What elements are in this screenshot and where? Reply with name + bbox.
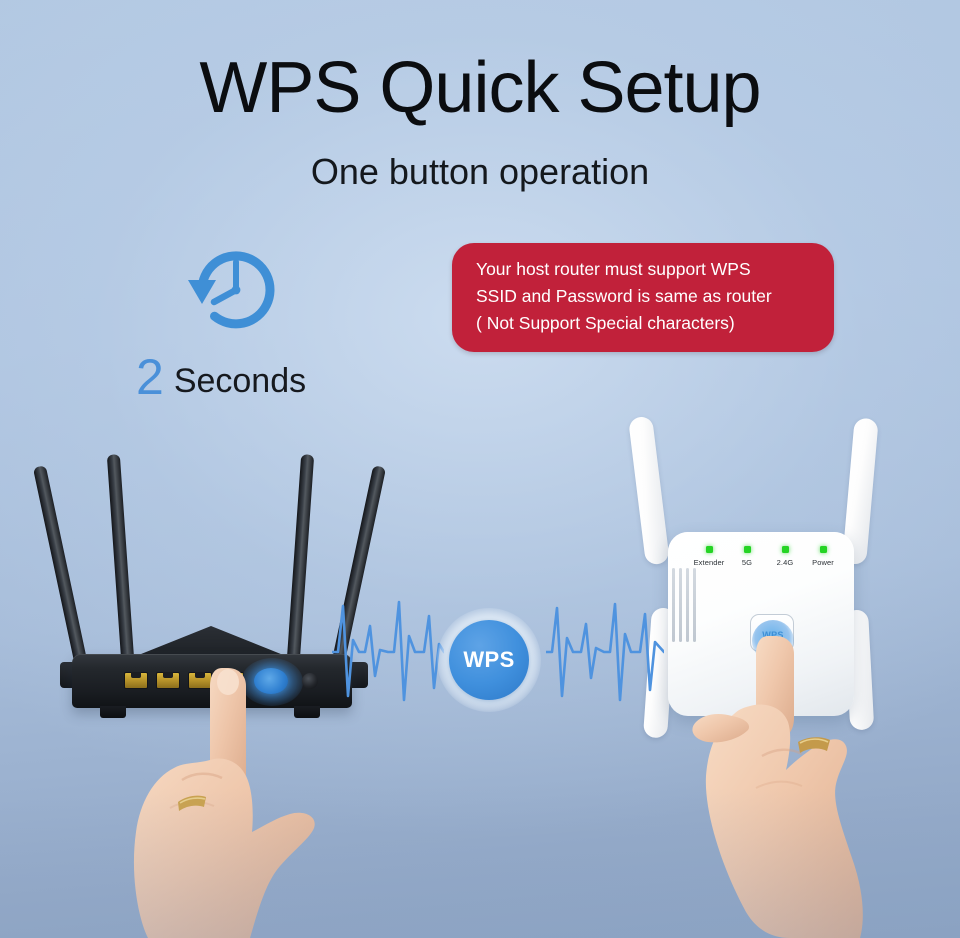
led-label: Power: [804, 558, 842, 567]
led-indicator-power: Power: [804, 546, 842, 567]
notice-line-3: ( Not Support Special characters): [476, 310, 814, 337]
hand-pressing-router-wps: [118, 660, 368, 938]
vent-slot: [693, 568, 696, 642]
page-subtitle: One button operation: [0, 154, 960, 190]
led-label: 5G: [728, 558, 766, 567]
router-antenna-2: [107, 454, 135, 672]
led-indicator-5g: 5G: [728, 546, 766, 567]
wps-badge-label: WPS: [463, 647, 514, 673]
led-indicator-24g: 2.4G: [766, 546, 804, 567]
timer-unit: Seconds: [174, 362, 306, 400]
extender-led-row: Extender 5G 2.4G Power: [690, 546, 842, 567]
vent-slot: [672, 568, 675, 642]
led-dot-icon: [706, 546, 713, 553]
infographic-canvas: WPS Quick Setup One button operation 2Se…: [0, 0, 960, 938]
led-label: 2.4G: [766, 558, 804, 567]
led-dot-icon: [820, 546, 827, 553]
signal-wave-right: [546, 592, 664, 715]
led-indicator-extender: Extender: [690, 546, 728, 567]
vent-slot: [679, 568, 682, 642]
clock-rotate-left-icon: [180, 236, 292, 344]
notice-line-1: Your host router must support WPS: [476, 256, 814, 283]
led-dot-icon: [782, 546, 789, 553]
page-title: WPS Quick Setup: [0, 52, 960, 124]
timer-caption: 2Seconds: [136, 348, 376, 406]
timer-number: 2: [136, 349, 164, 405]
router-antenna-1: [33, 465, 89, 671]
hand-pressing-extender-wps: [690, 636, 946, 938]
router-antenna-3: [286, 454, 314, 672]
wps-badge-circle: WPS: [449, 620, 529, 700]
notice-line-2: SSID and Password is same as router: [476, 283, 814, 310]
wps-center-badge: WPS: [437, 608, 541, 712]
led-dot-icon: [744, 546, 751, 553]
led-label: Extender: [690, 558, 728, 567]
timer-block: 2Seconds: [128, 236, 378, 406]
vent-slot: [686, 568, 689, 642]
requirements-notice: Your host router must support WPS SSID a…: [452, 243, 834, 352]
extender-vent-slots: [672, 568, 698, 642]
extender-antenna-top-left: [628, 416, 670, 566]
